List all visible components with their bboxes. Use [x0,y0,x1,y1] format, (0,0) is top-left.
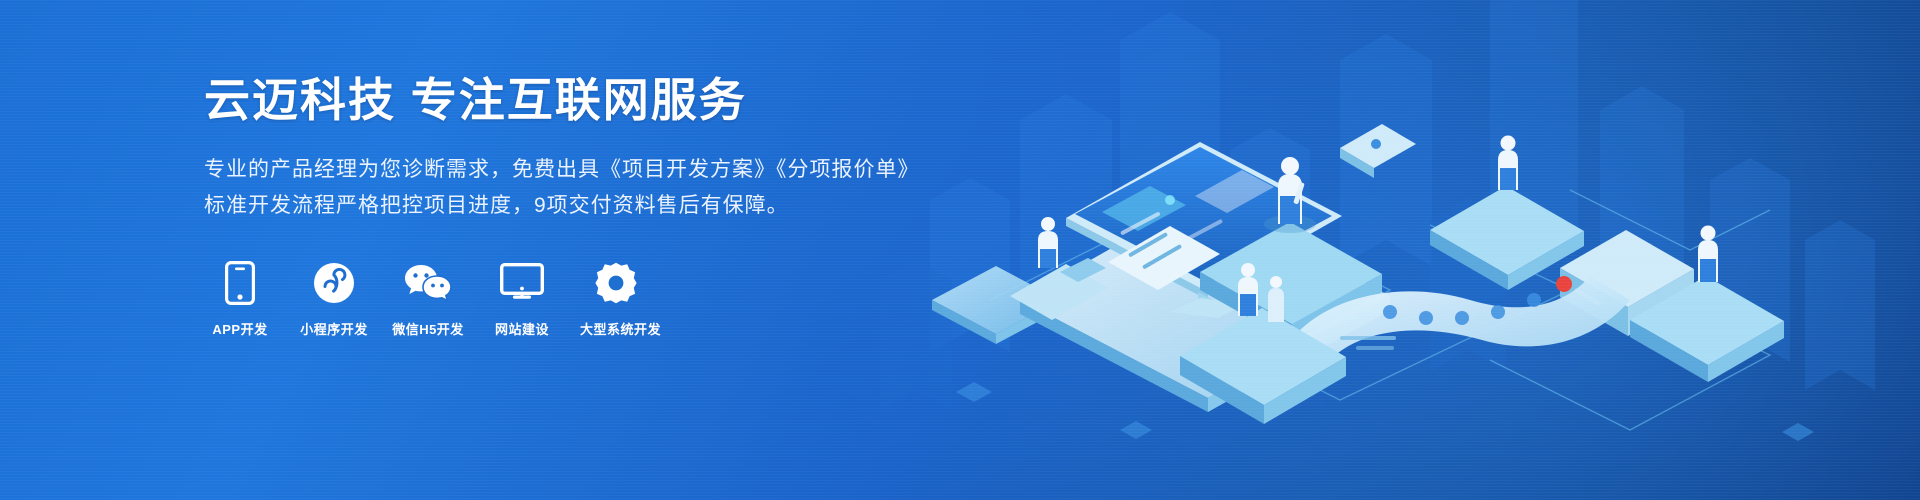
subtitle-line-2: 标准开发流程严格把控项目进度，9项交付资料售后有保障。 [204,188,920,224]
isometric-illustration [870,0,1920,500]
banner-content: 云迈科技 专注互联网服务 专业的产品经理为您诊断需求，免费出具《项目开发方案》《… [204,72,920,338]
service-item-website[interactable]: 网站建设 [486,260,558,338]
service-label: 小程序开发 [298,319,370,338]
gear-icon [580,260,652,306]
service-item-app[interactable]: APP开发 [204,260,276,338]
service-label: 大型系统开发 [580,319,652,338]
service-label: 微信H5开发 [392,319,464,338]
service-item-large-system[interactable]: 大型系统开发 [580,260,652,338]
service-list: APP开发 小程序开发 [204,260,920,338]
service-label: APP开发 [204,319,276,338]
service-item-mini-program[interactable]: 小程序开发 [298,260,370,338]
mobile-phone-icon [204,260,276,306]
service-label: 网站建设 [486,319,558,338]
page-title: 云迈科技 专注互联网服务 [204,72,920,130]
service-item-wechat-h5[interactable]: 微信H5开发 [392,260,464,338]
wechat-icon [392,260,464,306]
subtitle-line-1: 专业的产品经理为您诊断需求，免费出具《项目开发方案》《分项报价单》 [204,152,920,188]
hero-banner: 云迈科技 专注互联网服务 专业的产品经理为您诊断需求，免费出具《项目开发方案》《… [0,0,1920,500]
subtitle-block: 专业的产品经理为您诊断需求，免费出具《项目开发方案》《分项报价单》 标准开发流程… [204,152,920,224]
monitor-icon [486,260,558,306]
mini-program-icon [298,260,370,306]
